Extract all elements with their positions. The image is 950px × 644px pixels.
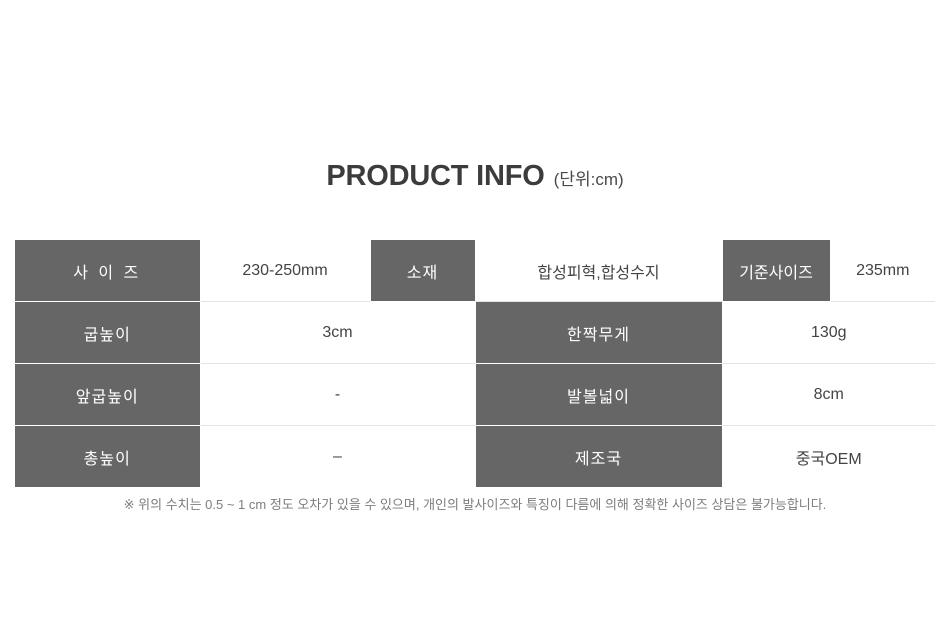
spec-value-platform-height: -: [200, 364, 475, 426]
product-spec-table: 사 이 즈 230-250mm 소재 합성피혁,합성수지 기준사이즈 235mm…: [15, 240, 935, 487]
spec-label-base-size: 기준사이즈: [722, 240, 830, 302]
title-main-text: PRODUCT INFO: [326, 160, 544, 192]
table-row: 사 이 즈 230-250mm 소재 합성피혁,합성수지 기준사이즈 235mm: [15, 240, 935, 302]
spec-label-total-height: 총높이: [15, 426, 200, 488]
spec-value-material: 합성피혁,합성수지: [475, 240, 722, 302]
spec-value-size: 230-250mm: [200, 240, 370, 302]
spec-value-base-size: 235mm: [830, 240, 935, 302]
spec-label-size: 사 이 즈: [15, 240, 200, 302]
spec-value-single-weight: 130g: [722, 302, 935, 364]
spec-label-heel-height: 굽높이: [15, 302, 200, 364]
spec-label-material: 소재: [370, 240, 475, 302]
spec-label-foot-width: 발볼넓이: [475, 364, 722, 426]
title-unit-text: (단위:cm): [554, 170, 624, 189]
page-title: PRODUCT INFO(단위:cm): [0, 160, 950, 193]
measurement-disclaimer-note: ※ 위의 수치는 0.5 ~ 1 cm 정도 오차가 있을 수 있으며, 개인의…: [0, 494, 950, 513]
spec-label-platform-height: 앞굽높이: [15, 364, 200, 426]
spec-value-foot-width: 8cm: [722, 364, 935, 426]
table-row: 굽높이 3cm 한짝무게 130g: [15, 302, 935, 364]
spec-value-origin: 중국OEM: [722, 426, 935, 488]
spec-value-heel-height: 3cm: [200, 302, 475, 364]
table-row: 앞굽높이 - 발볼넓이 8cm: [15, 364, 935, 426]
spec-value-total-height: –: [200, 426, 475, 488]
spec-label-single-weight: 한짝무게: [475, 302, 722, 364]
product-info-page: PRODUCT INFO(단위:cm) 사 이 즈 230-250mm 소재 합…: [0, 0, 950, 644]
table-row: 총높이 – 제조국 중국OEM: [15, 426, 935, 488]
spec-label-origin: 제조국: [475, 426, 722, 488]
